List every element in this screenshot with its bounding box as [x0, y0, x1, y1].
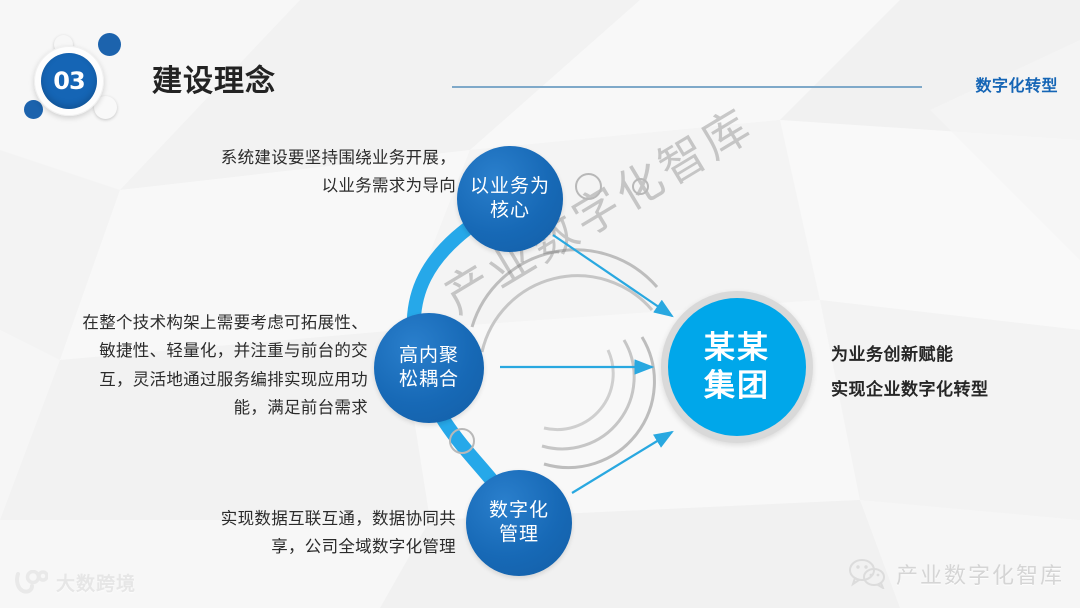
node-core-business[interactable]: 以业务为 核心 — [457, 146, 563, 252]
node-center-line1: 某某 — [704, 329, 770, 367]
header-right-label: 数字化转型 — [975, 72, 1058, 96]
footer-right-label: 产业数字化智库 — [896, 558, 1064, 590]
desc-architecture: 在整个技术构架上需要考虑可拓展性、敏捷性、轻量化，并注重与前台的交互，灵活地通过… — [76, 309, 368, 423]
badge-inner-circle: 03 — [41, 53, 97, 109]
decor-ring-large — [575, 173, 602, 200]
outcome-line1: 为业务创新赋能 — [831, 338, 989, 373]
node-digital-mgmt-line2: 管理 — [499, 523, 539, 547]
decor-dot-blue-bottom-left — [24, 100, 43, 119]
decor-dot-blue-top-right — [98, 33, 121, 56]
decor-ring-small — [632, 178, 649, 195]
section-number-badge: 03 — [22, 34, 116, 128]
node-digital-mgmt[interactable]: 数字化 管理 — [466, 470, 572, 576]
footer-right-brand: 产业数字化智库 — [848, 558, 1064, 590]
node-core-business-line1: 以业务为 — [470, 175, 550, 199]
page-title: 建设理念 — [152, 56, 276, 100]
node-digital-mgmt-line1: 数字化 — [489, 499, 549, 523]
node-cohesion[interactable]: 高内聚 松耦合 — [374, 313, 484, 423]
desc-core-business: 系统建设要坚持围绕业务开展，以业务需求为导向 — [206, 144, 456, 201]
footer-left-label: 大数跨境 — [56, 569, 136, 596]
node-cohesion-line2: 松耦合 — [399, 368, 459, 392]
badge-number-label: 03 — [53, 67, 84, 95]
wechat-icon — [848, 559, 886, 589]
slide-canvas: 03 建设理念 数字化转型 产业数字化智库 以业务为 核心 — [0, 0, 1080, 608]
header-divider-line — [452, 86, 922, 88]
desc-data: 实现数据互联互通，数据协同共享，公司全域数字化管理 — [196, 505, 456, 562]
outcome-line2: 实现企业数字化转型 — [831, 373, 989, 408]
footer-left-brand: 大数跨境 — [14, 569, 136, 596]
brand-logo-icon — [14, 570, 48, 596]
outcome-text: 为业务创新赋能 实现企业数字化转型 — [831, 338, 989, 408]
node-cohesion-line1: 高内聚 — [399, 344, 459, 368]
node-center-line2: 集团 — [704, 367, 770, 405]
node-center-group[interactable]: 某某 集团 — [661, 291, 813, 443]
node-core-business-line2: 核心 — [490, 199, 530, 223]
decor-ring-mid — [449, 428, 475, 454]
